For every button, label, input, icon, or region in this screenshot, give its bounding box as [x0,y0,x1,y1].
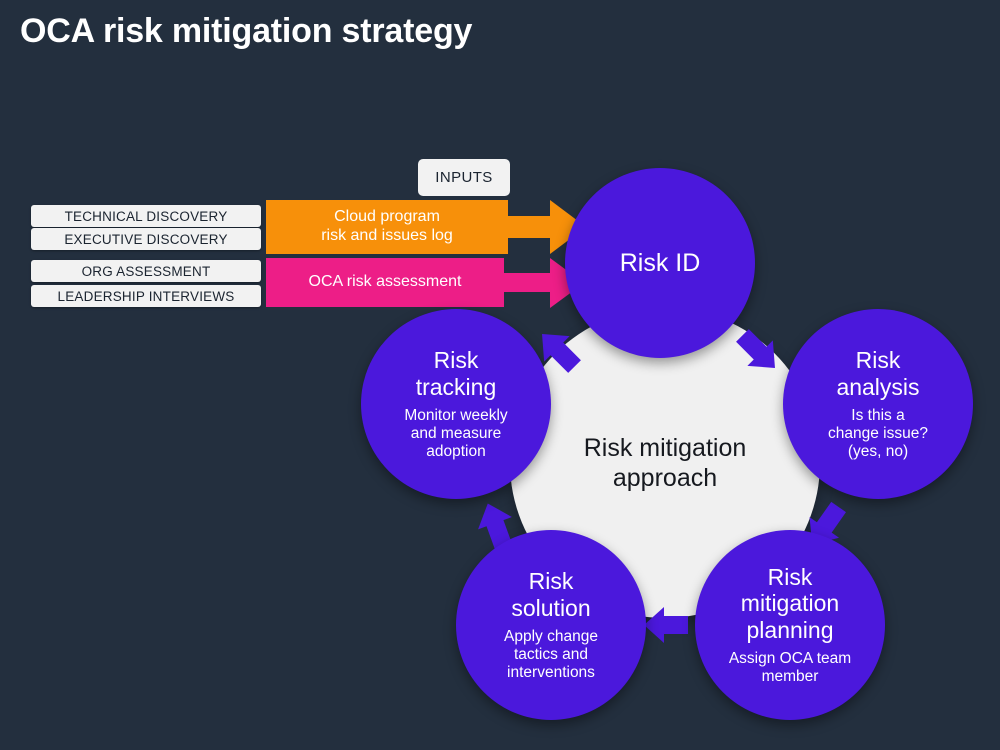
cycle-hub-label-line-1: Risk mitigation [584,433,747,463]
node-subtitle-line-3: (yes, no) [828,443,928,461]
slide-canvas: OCA risk mitigation strategy INPUTS TECH… [0,0,1000,750]
cycle-hub-label-line-2: approach [584,463,747,493]
node-subtitle-line-1: Assign OCA team [729,650,851,668]
node-subtitle: Assign OCA team member [729,650,851,686]
cycle-node-risk-mitigation-planning[interactable]: Risk mitigation planning Assign OCA team… [695,530,885,720]
cycle-node-risk-solution[interactable]: Risk solution Apply change tactics and i… [456,530,646,720]
node-title: Risk solution [511,568,590,620]
node-title-line-3: planning [741,617,839,643]
node-subtitle-line-3: adoption [404,443,507,461]
node-subtitle-line-2: and measure [404,425,507,443]
node-title-line-1: Risk [511,568,590,594]
node-title-line-1: Risk [416,347,497,373]
risk-mitigation-cycle: Risk mitigation approach [0,0,1000,750]
node-subtitle-line-1: Apply change [504,628,598,646]
node-subtitle-line-1: Monitor weekly [404,407,507,425]
node-title-line-1: Risk ID [620,249,701,278]
node-subtitle-line-2: member [729,668,851,686]
node-title-line-2: solution [511,595,590,621]
cycle-node-risk-analysis[interactable]: Risk analysis Is this a change issue? (y… [783,309,973,499]
node-subtitle-line-3: interventions [504,664,598,682]
node-subtitle: Monitor weekly and measure adoption [404,407,507,461]
node-title-line-2: analysis [836,374,919,400]
node-subtitle: Is this a change issue? (yes, no) [828,407,928,461]
cycle-hub-label: Risk mitigation approach [584,433,747,493]
node-subtitle: Apply change tactics and interventions [504,628,598,682]
node-subtitle-line-2: tactics and [504,646,598,664]
node-title: Risk mitigation planning [741,564,839,643]
node-title: Risk analysis [836,347,919,399]
node-title-line-1: Risk [836,347,919,373]
node-title-line-2: mitigation [741,590,839,616]
node-title: Risk tracking [416,347,497,399]
node-title-line-1: Risk [741,564,839,590]
node-subtitle-line-2: change issue? [828,425,928,443]
cycle-node-risk-id[interactable]: Risk ID [565,168,755,358]
cycle-node-risk-tracking[interactable]: Risk tracking Monitor weekly and measure… [361,309,551,499]
node-title-line-2: tracking [416,374,497,400]
node-subtitle-line-1: Is this a [828,407,928,425]
node-title: Risk ID [620,249,701,278]
